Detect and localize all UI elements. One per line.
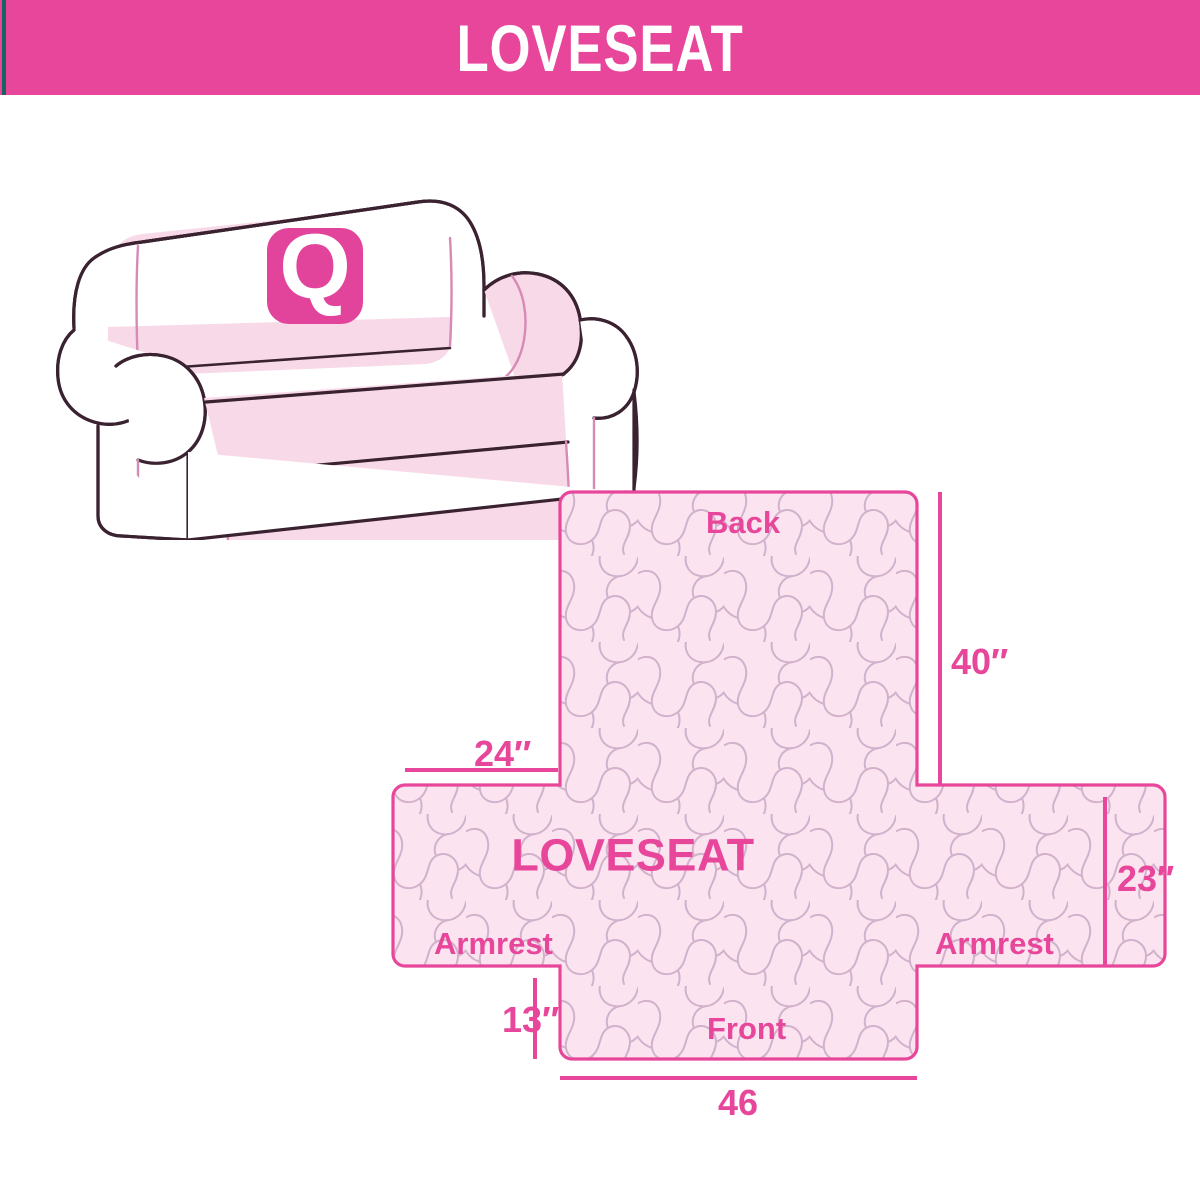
panel-label-armrest-right: Armrest bbox=[935, 928, 1054, 959]
dimension-label-armrest-span: 24″ bbox=[474, 736, 531, 772]
svg-text:Q: Q bbox=[279, 216, 351, 318]
panel-label-armrest-left: Armrest bbox=[434, 928, 553, 959]
panel-label-front: Front bbox=[707, 1013, 786, 1044]
dimension-label-back-depth: 40″ bbox=[951, 644, 1008, 680]
header-banner: LOVESEAT bbox=[0, 0, 1200, 95]
panel-label-center: LOVESEAT bbox=[511, 833, 754, 878]
brand-logo: Q bbox=[267, 216, 363, 324]
dimension-label-front-depth: 13″ bbox=[502, 1002, 559, 1038]
page-title: LOVESEAT bbox=[120, 0, 1080, 95]
dimension-label-armrest-depth: 23″ bbox=[1117, 861, 1174, 897]
panel-label-back: Back bbox=[706, 507, 780, 538]
size-chart-page: LOVESEAT bbox=[0, 0, 1200, 1200]
header-accent-stripe bbox=[2, 0, 6, 95]
dimension-label-total-width: 46 bbox=[718, 1085, 758, 1121]
